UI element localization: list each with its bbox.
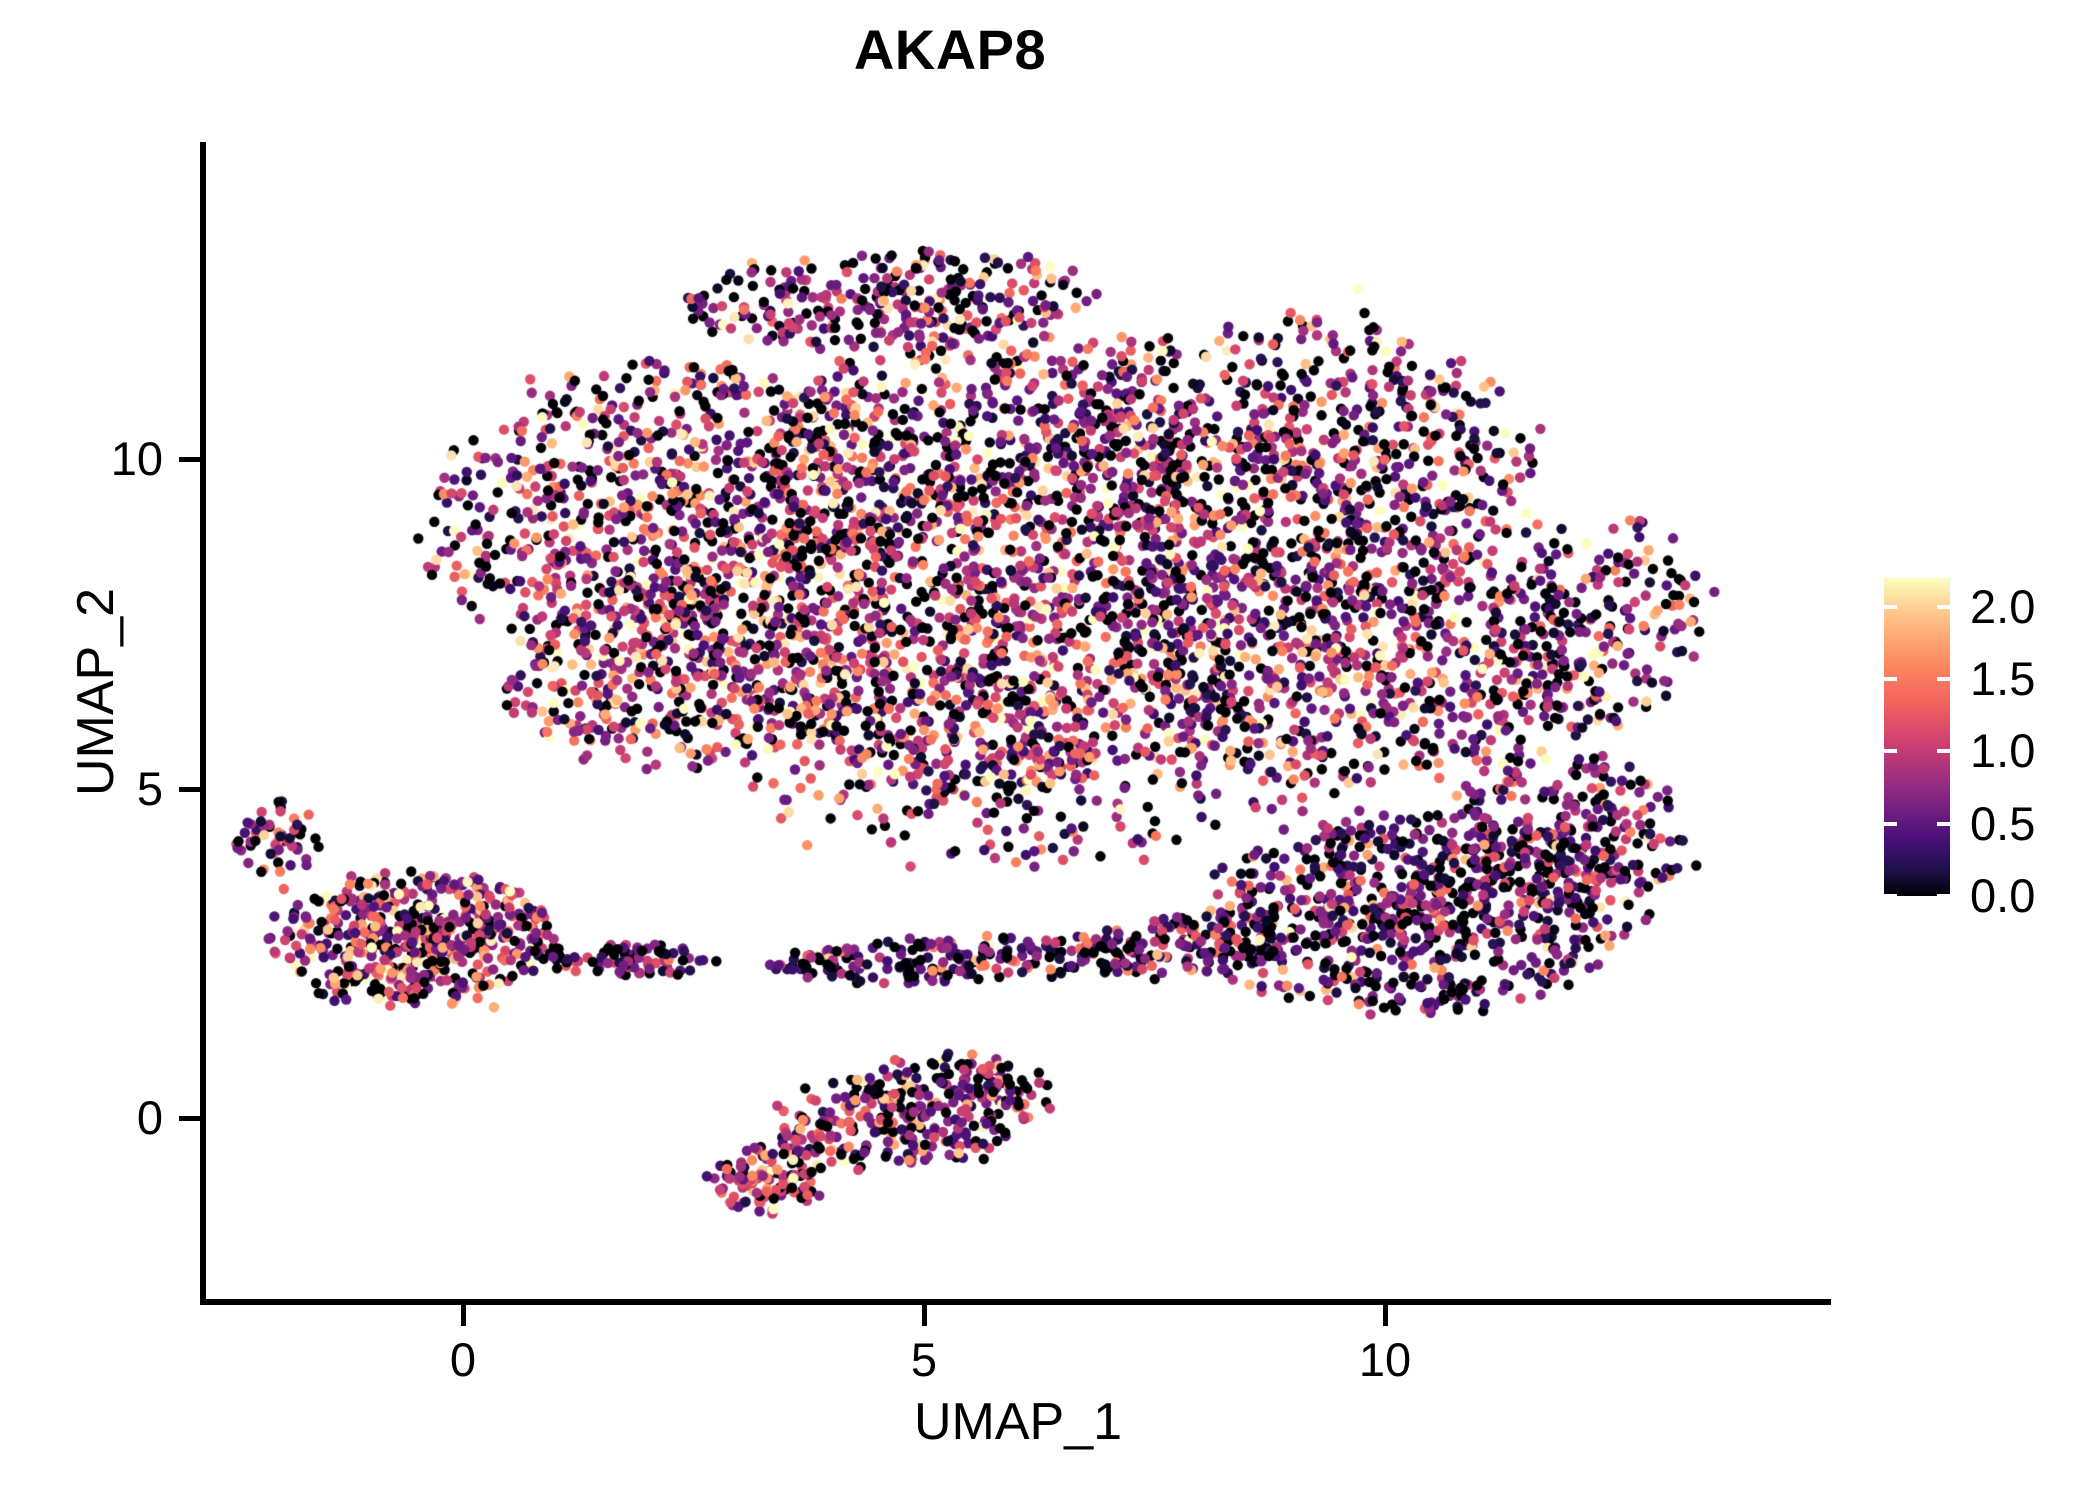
x-tick-mark (1383, 1305, 1388, 1326)
colorbar-tick-mark (1884, 605, 1897, 609)
colorbar-tick-mark (1937, 822, 1950, 826)
y-axis-line (200, 142, 206, 1305)
colorbar-tick-label: 1.0 (1970, 727, 2100, 774)
page-title: AKAP8 (0, 22, 1900, 78)
x-tick-mark (922, 1305, 927, 1326)
x-axis-line (200, 1299, 1831, 1305)
colorbar-gradient-fill (1884, 578, 1950, 896)
colorbar-tick-mark (1937, 605, 1950, 609)
colorbar-tick-mark (1884, 677, 1897, 681)
colorbar-tick-mark (1937, 677, 1950, 681)
colorbar-tick-mark (1937, 749, 1950, 753)
y-tick-mark (179, 457, 200, 462)
y-tick-label: 0 (0, 1094, 163, 1141)
colorbar-tick-mark (1884, 822, 1897, 826)
y-tick-mark (179, 1116, 200, 1121)
colorbar-tick-mark (1884, 749, 1897, 753)
colorbar-tick-label: 0.0 (1970, 872, 2100, 919)
colorbar-legend: 2.01.51.00.50.0 (1884, 578, 2084, 908)
x-tick-label: 0 (383, 1336, 543, 1383)
x-axis-title: UMAP_1 (205, 1396, 1831, 1448)
y-tick-label: 5 (0, 765, 163, 812)
x-tick-label: 10 (1305, 1336, 1465, 1383)
umap-feature-plot: AKAP8 0510 0510 UMAP_1 UMAP_2 2.01.51.00… (0, 0, 2100, 1500)
x-tick-mark (461, 1305, 466, 1326)
y-tick-mark (179, 787, 200, 792)
colorbar-tick-label: 2.0 (1970, 583, 2100, 630)
scatter-plot-canvas (205, 142, 1831, 1302)
plot-panel (205, 142, 1831, 1302)
colorbar-gradient-bar (1884, 578, 1950, 896)
colorbar-tick-label: 1.5 (1970, 655, 2100, 702)
colorbar-tick-label: 0.5 (1970, 800, 2100, 847)
x-tick-label: 5 (844, 1336, 1004, 1383)
colorbar-tick-mark (1884, 894, 1897, 898)
colorbar-tick-mark (1937, 894, 1950, 898)
y-tick-label: 10 (0, 435, 163, 482)
